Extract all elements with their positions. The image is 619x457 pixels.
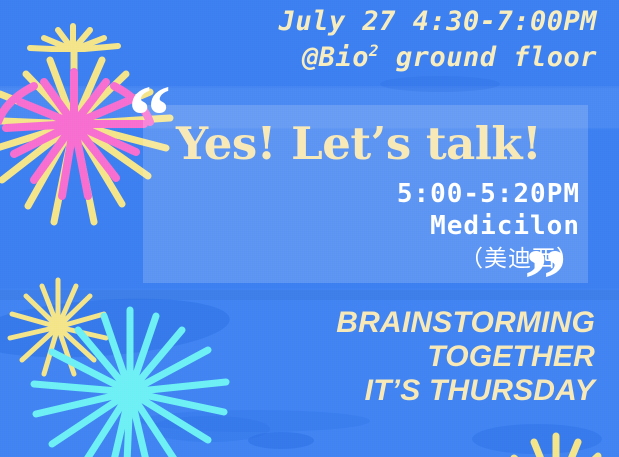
slogan-line-1: BRAINSTORMING <box>336 306 595 340</box>
session-time: 5:00-5:20PM <box>180 178 580 210</box>
slogan-line-3: IT’S THURSDAY <box>336 374 595 408</box>
background-blob <box>472 424 602 454</box>
background-blob <box>248 432 314 449</box>
session-organization: Medicilon <box>180 210 580 242</box>
background-blob <box>380 76 500 92</box>
header-location-superscript: 2 <box>369 41 379 60</box>
header-location-suffix: ground floor <box>379 42 597 73</box>
session-organization-chinese: （美迪西） <box>180 242 580 276</box>
quote-open-mark-icon: “ <box>128 72 169 158</box>
headline-text: Yes! Let’s talk! <box>176 118 580 170</box>
slogan-text: BRAINSTORMING TOGETHER IT’S THURSDAY <box>336 306 595 408</box>
header-line-location: @Bio2 ground floor <box>0 40 597 76</box>
header-location-prefix: @Bio <box>302 42 369 73</box>
event-header: July 27 4:30-7:00PM @Bio2 ground floor <box>0 4 597 76</box>
session-details: 5:00-5:20PM Medicilon （美迪西） <box>180 178 580 276</box>
poster-canvas: July 27 4:30-7:00PM @Bio2 ground floor “… <box>0 0 619 457</box>
slogan-line-2: TOGETHER <box>336 340 595 374</box>
header-line-date-time: July 27 4:30-7:00PM <box>0 4 597 40</box>
